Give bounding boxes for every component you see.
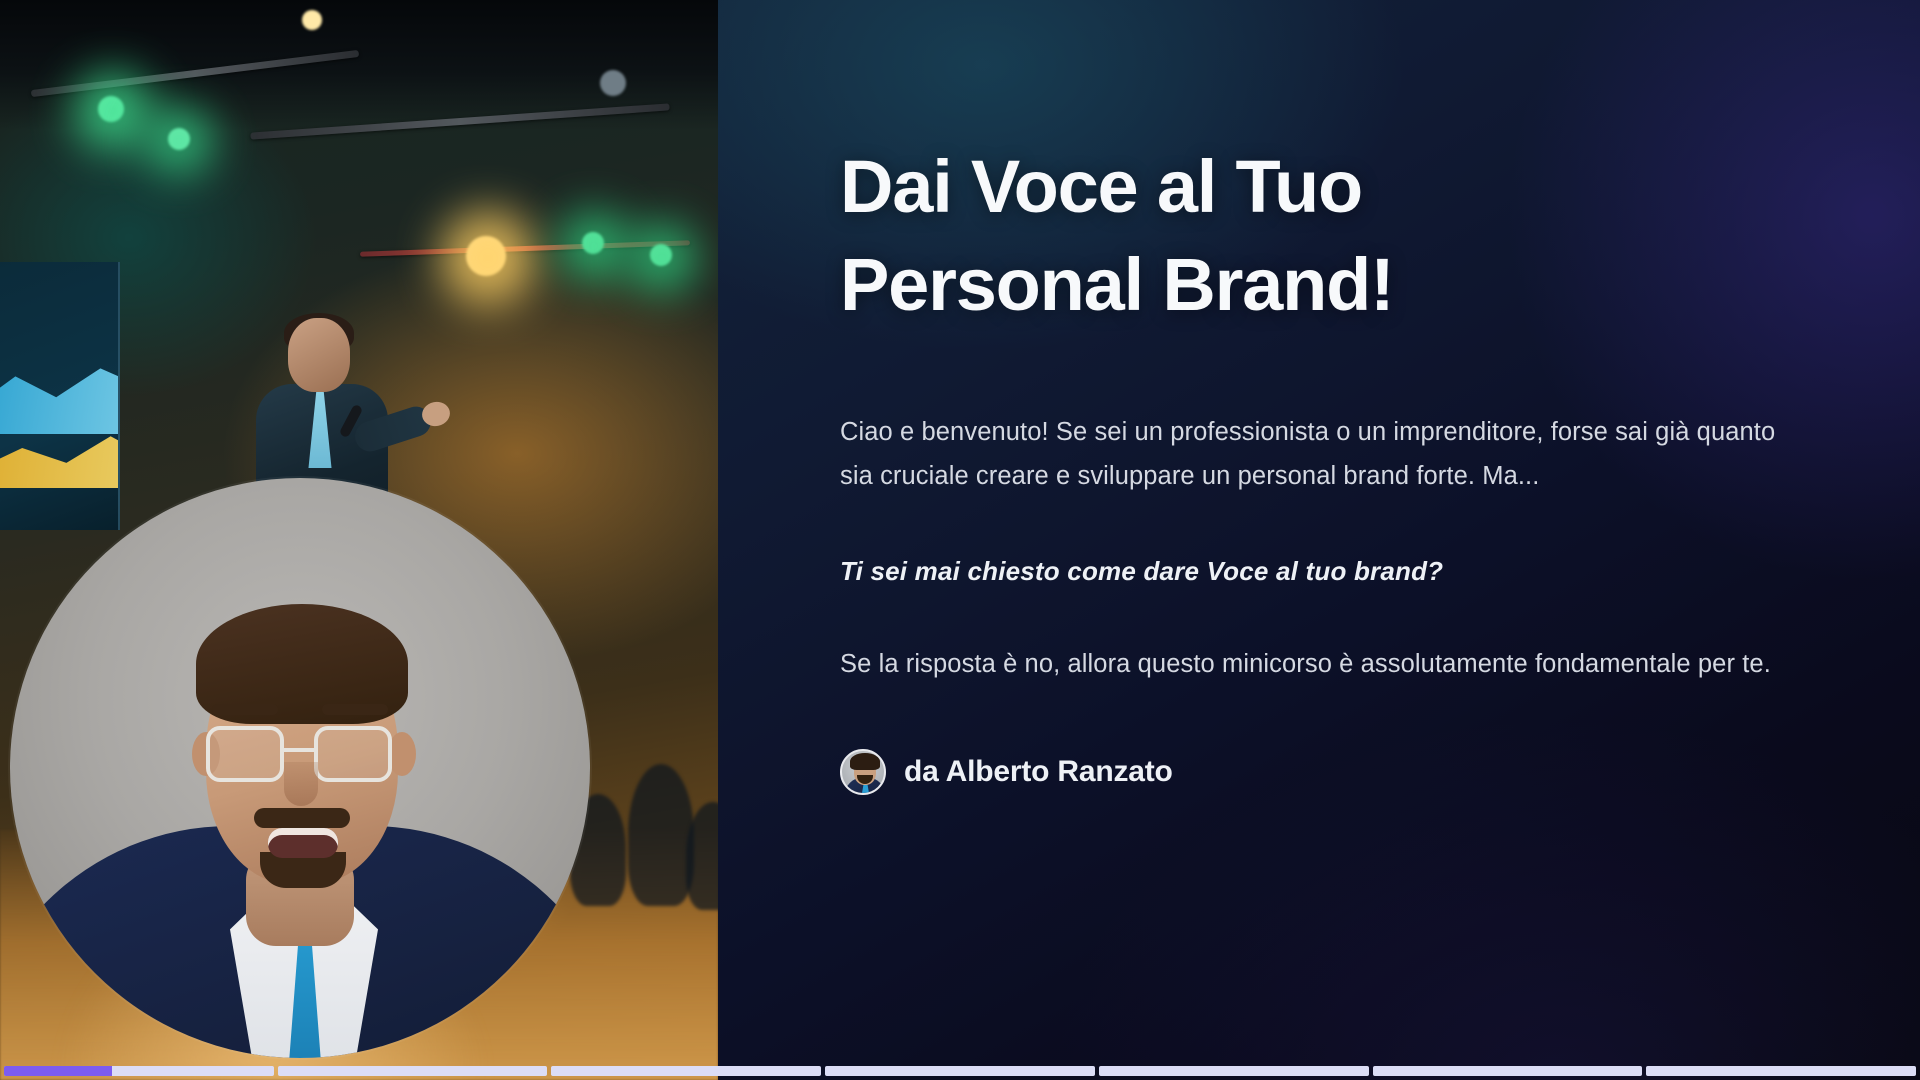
avatar: [840, 749, 886, 795]
spotlight-icon: [302, 10, 322, 30]
progress-segment-4[interactable]: [825, 1066, 1095, 1076]
spotlight-glow: [74, 72, 152, 150]
content-panel: Dai Voce al Tuo Personal Brand! Ciao e b…: [718, 0, 1920, 1080]
intro-paragraph: Ciao e benvenuto! Se sei un professionis…: [840, 411, 1800, 499]
page-title: Dai Voce al Tuo Personal Brand!: [840, 138, 1670, 335]
progress-segment-6[interactable]: [1373, 1066, 1643, 1076]
author-name: da Alberto Ranzato: [904, 755, 1173, 789]
closing-paragraph: Se la risposta è no, allora questo minic…: [840, 643, 1800, 687]
progress-segment-5[interactable]: [1099, 1066, 1369, 1076]
presentation-screen: [0, 262, 120, 530]
progress-segment-3[interactable]: [551, 1066, 821, 1076]
stage-photo-panel: [0, 0, 718, 1080]
progress-segment-2[interactable]: [278, 1066, 548, 1076]
spotlight-glow: [628, 224, 696, 292]
progress-segment-7[interactable]: [1646, 1066, 1916, 1076]
spotlight-glow: [440, 210, 536, 306]
slide-screen: Dai Voce al Tuo Personal Brand! Ciao e b…: [0, 0, 1920, 1080]
presenter-webcam-overlay: [10, 478, 590, 1058]
author-byline: da Alberto Ranzato: [840, 749, 1860, 795]
screen-chart-blue: [0, 354, 120, 434]
spotlight-icon: [600, 70, 626, 96]
progress-bar[interactable]: [0, 1066, 1920, 1080]
progress-segment-1[interactable]: [4, 1066, 274, 1076]
progress-segment-fill: [4, 1066, 112, 1076]
spotlight-glow: [146, 108, 212, 174]
question-paragraph: Ti sei mai chiesto come dare Voce al tuo…: [840, 549, 1800, 594]
spotlight-glow: [560, 212, 628, 280]
